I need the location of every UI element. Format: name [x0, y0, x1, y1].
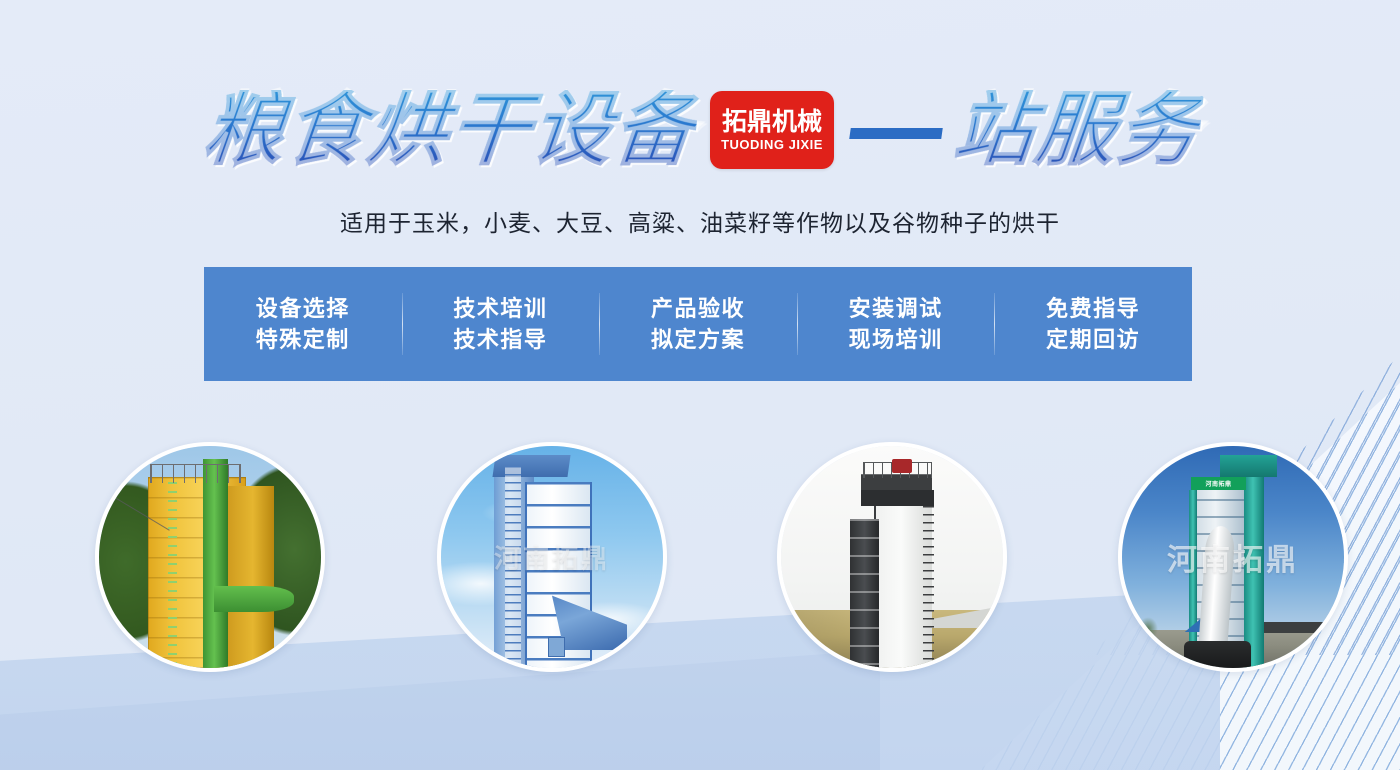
photo-2-ladder [505, 466, 521, 668]
promo-banner: 粮食烘干设备 拓鼎机械 TUODING JIXIE 站服务 适用于玉米，小麦、大… [0, 0, 1400, 770]
brand-logo-badge: 拓鼎机械 TUODING JIXIE [710, 91, 834, 169]
photo-1-top-railing [150, 464, 241, 483]
photo-2-scene: 河南拓鼎 [441, 446, 663, 668]
subtitle-text: 适用于玉米，小麦、大豆、高粱、油菜籽等作物以及谷物种子的烘干 [0, 204, 1400, 238]
headline-main-text: 粮食烘干设备 [196, 90, 700, 170]
service-item-3: 产品验收 拟定方案 [599, 267, 797, 381]
brand-name-en: TUODING JIXIE [721, 138, 823, 151]
service-item-5-line2: 定期回访 [1046, 329, 1140, 351]
service-item-3-line1: 产品验收 [651, 298, 745, 320]
photo-3-red-equipment [892, 459, 912, 472]
service-item-1: 设备选择 特殊定制 [204, 267, 402, 381]
product-photo-gallery: 河南拓鼎 [0, 440, 1400, 690]
photo-4-scene: 河南拓鼎 河南拓鼎 [1122, 446, 1344, 668]
product-photo-4-teal-dryer: 河南拓鼎 河南拓鼎 [1118, 442, 1348, 672]
service-item-2-line2: 技术指导 [453, 329, 547, 351]
horizontal-dash-icon [849, 128, 943, 139]
service-item-5-line1: 免费指导 [1046, 298, 1140, 320]
service-item-5: 免费指导 定期回访 [994, 267, 1192, 381]
service-item-4: 安装调试 现场培训 [797, 267, 995, 381]
service-feature-bar: 设备选择 特殊定制 技术培训 技术指导 产品验收 拟定方案 安装调试 现场培训 … [204, 267, 1192, 381]
service-item-1-line1: 设备选择 [256, 298, 350, 320]
service-item-1-line2: 特殊定制 [256, 329, 350, 351]
photo-3-top-band [861, 490, 934, 506]
headline-tail-text: 站服务 [950, 90, 1204, 170]
product-photo-1-yellow-dryer [95, 442, 325, 672]
service-item-2: 技术培训 技术指导 [402, 267, 600, 381]
service-item-2-line1: 技术培训 [453, 298, 547, 320]
photo-1-bucket-elevator [203, 459, 227, 668]
photo-4-brand-signboard: 河南拓鼎 [1191, 477, 1247, 490]
brand-name-cn: 拓鼎机械 [722, 110, 822, 135]
photo-3-ladder [923, 490, 934, 668]
headline-row: 粮食烘干设备 拓鼎机械 TUODING JIXIE 站服务 [0, 78, 1400, 182]
photo-4-signboard-text: 河南拓鼎 [1206, 479, 1232, 488]
photo-1-dryer-tower-side [221, 486, 274, 668]
product-photo-2-blue-dryer: 河南拓鼎 [437, 442, 667, 672]
photo-1-scene [99, 446, 321, 668]
product-photo-3-grey-dryer [777, 442, 1007, 672]
photo-4-bucket-elevator [1244, 468, 1264, 668]
photo-4-elevator-head [1220, 455, 1278, 477]
service-item-4-line1: 安装调试 [849, 298, 943, 320]
photo-1-ladder [168, 482, 177, 664]
photo-4-base-unit [1184, 641, 1251, 668]
photo-1-duct [214, 586, 294, 613]
service-item-4-line2: 现场培训 [849, 329, 943, 351]
photo-3-dryer-tower-dark [850, 519, 879, 668]
service-item-3-line2: 拟定方案 [651, 329, 745, 351]
photo-4-tree [1138, 617, 1158, 637]
photo-2-control-panel [548, 637, 566, 657]
photo-3-scene [781, 446, 1003, 668]
